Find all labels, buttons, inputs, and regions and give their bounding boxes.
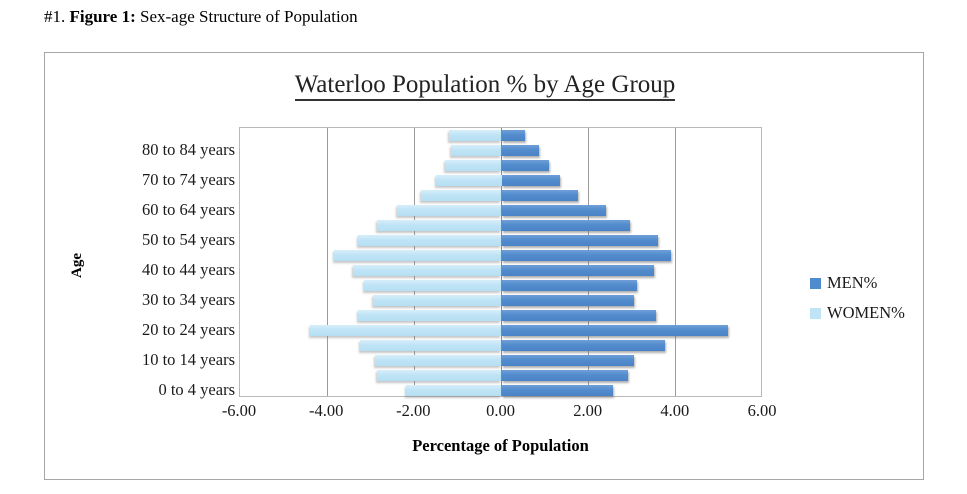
figure-caption-number: #1. xyxy=(44,7,65,26)
bar-men[interactable] xyxy=(502,220,631,231)
legend-swatch-icon xyxy=(810,308,821,319)
bar-women[interactable] xyxy=(436,175,501,186)
y-axis-tick-label: 50 to 54 years xyxy=(142,230,235,250)
bar-women[interactable] xyxy=(364,280,501,291)
bar-women[interactable] xyxy=(397,205,502,216)
chart-title: Waterloo Population % by Age Group xyxy=(45,71,925,99)
bar-men[interactable] xyxy=(502,280,637,291)
bar-row xyxy=(240,278,761,293)
bar-row xyxy=(240,368,761,383)
bar-men[interactable] xyxy=(502,370,628,381)
y-axis-tick-label: 60 to 64 years xyxy=(142,200,235,220)
bar-row xyxy=(240,308,761,323)
bar-row xyxy=(240,188,761,203)
bar-row xyxy=(240,233,761,248)
figure-caption-label: Figure 1: xyxy=(70,7,136,26)
bar-men[interactable] xyxy=(502,160,550,171)
bar-women[interactable] xyxy=(421,190,502,201)
bar-women[interactable] xyxy=(358,310,502,321)
legend-label: WOMEN% xyxy=(827,303,905,323)
x-axis-tick-labels: -6.00-4.00-2.000.002.004.006.00 xyxy=(239,401,762,425)
legend-item[interactable]: WOMEN% xyxy=(810,298,920,328)
x-axis-tick-label: 6.00 xyxy=(748,401,777,421)
x-axis-tick-label: 4.00 xyxy=(660,401,689,421)
bar-women[interactable] xyxy=(360,340,502,351)
bar-women[interactable] xyxy=(451,145,501,156)
y-axis-tick-label: 10 to 14 years xyxy=(142,350,235,370)
legend-swatch-icon xyxy=(810,278,821,289)
bar-row xyxy=(240,248,761,263)
bar-row xyxy=(240,338,761,353)
plot-area xyxy=(239,127,762,397)
bar-men[interactable] xyxy=(502,340,665,351)
bar-women[interactable] xyxy=(377,370,501,381)
figure-caption-text: Sex-age Structure of Population xyxy=(140,7,358,26)
figure-caption: #1. Figure 1: Sex-age Structure of Popul… xyxy=(44,7,358,27)
bar-men[interactable] xyxy=(502,265,655,276)
x-axis-tick-label: 0.00 xyxy=(486,401,515,421)
bar-row xyxy=(240,143,761,158)
bar-women[interactable] xyxy=(377,220,501,231)
x-axis-title: Percentage of Population xyxy=(239,436,762,456)
bar-row xyxy=(240,353,761,368)
bar-men[interactable] xyxy=(502,325,729,336)
bar-row xyxy=(240,293,761,308)
bar-men[interactable] xyxy=(502,145,539,156)
bar-men[interactable] xyxy=(502,385,613,396)
bar-women[interactable] xyxy=(353,265,501,276)
bar-women[interactable] xyxy=(449,130,501,141)
y-axis-tick-label: 0 to 4 years xyxy=(158,380,235,400)
bar-men[interactable] xyxy=(502,190,578,201)
bar-men[interactable] xyxy=(502,250,672,261)
bar-women[interactable] xyxy=(373,295,502,306)
figure-frame: Waterloo Population % by Age Group Age 8… xyxy=(44,52,924,480)
x-axis-tick-label: -2.00 xyxy=(396,401,430,421)
legend-label: MEN% xyxy=(827,273,877,293)
bar-women[interactable] xyxy=(310,325,502,336)
bar-women[interactable] xyxy=(334,250,502,261)
bar-row xyxy=(240,128,761,143)
bar-men[interactable] xyxy=(502,130,526,141)
chart-legend: MEN%WOMEN% xyxy=(810,268,920,328)
y-axis-tick-label: 70 to 74 years xyxy=(142,170,235,190)
bar-men[interactable] xyxy=(502,175,561,186)
y-axis-tick-label: 80 to 84 years xyxy=(142,140,235,160)
bar-row xyxy=(240,383,761,398)
bar-row xyxy=(240,323,761,338)
x-axis-tick-label: 2.00 xyxy=(573,401,602,421)
y-axis-tick-labels: 80 to 84 years70 to 74 years60 to 64 yea… xyxy=(75,127,235,397)
y-axis-tick-label: 40 to 44 years xyxy=(142,260,235,280)
x-axis-tick-label: -4.00 xyxy=(309,401,343,421)
bar-women[interactable] xyxy=(445,160,502,171)
bar-women[interactable] xyxy=(358,235,502,246)
bar-row xyxy=(240,263,761,278)
bar-men[interactable] xyxy=(502,310,657,321)
y-axis-tick-label: 20 to 24 years xyxy=(142,320,235,340)
bar-row xyxy=(240,173,761,188)
bar-men[interactable] xyxy=(502,235,659,246)
bar-row xyxy=(240,158,761,173)
chart-title-text: Waterloo Population % by Age Group xyxy=(295,71,676,101)
bar-men[interactable] xyxy=(502,355,635,366)
y-axis-tick-label: 30 to 34 years xyxy=(142,290,235,310)
bar-men[interactable] xyxy=(502,205,607,216)
bar-row xyxy=(240,203,761,218)
x-axis-tick-label: -6.00 xyxy=(222,401,256,421)
bar-row xyxy=(240,218,761,233)
bar-women[interactable] xyxy=(375,355,501,366)
bar-men[interactable] xyxy=(502,295,635,306)
bar-women[interactable] xyxy=(406,385,502,396)
legend-item[interactable]: MEN% xyxy=(810,268,920,298)
